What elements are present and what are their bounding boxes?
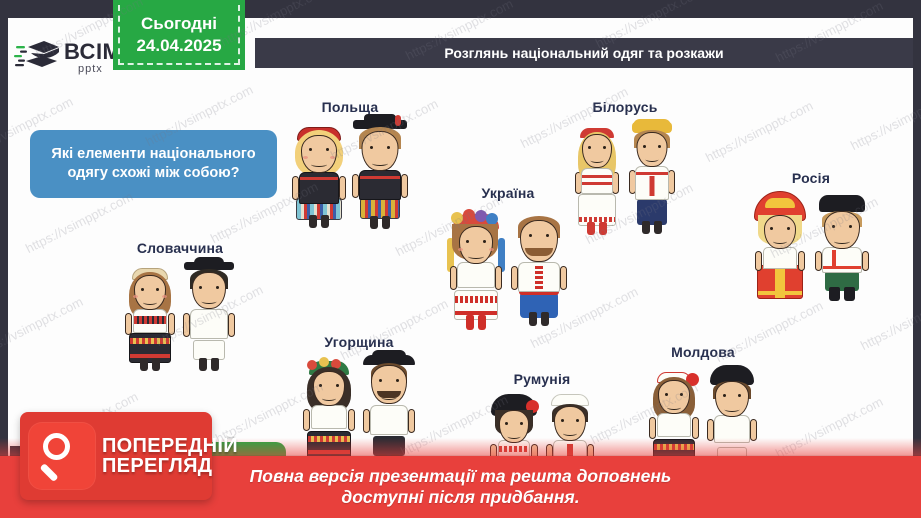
figure-male-poland [349, 116, 411, 221]
group-poland: Польща [289, 99, 411, 221]
preview-button[interactable]: ПОПЕРЕДНІЙ ПЕРЕГЛЯД [20, 412, 212, 500]
figure-pair-poland [289, 116, 411, 221]
country-label-ukraine: Україна [445, 185, 571, 201]
preview-button-line1: ПОПЕРЕДНІЙ [102, 436, 238, 456]
today-label: Сьогодні [141, 13, 217, 35]
slide-title: Розглянь національний одяг та розкажи [444, 45, 723, 61]
preview-button-line2: ПЕРЕГЛЯД [102, 456, 238, 476]
group-belarus: Білорусь [570, 99, 680, 228]
question-bubble: Які елементи національного одягу схожі м… [30, 130, 277, 198]
country-label-belarus: Білорусь [570, 99, 680, 115]
country-label-romania: Румунія [486, 371, 598, 387]
figure-female-russia [749, 189, 811, 299]
slide-title-band: Розглянь національний одяг та розкажи [255, 38, 913, 68]
figure-female-ukraine [445, 204, 507, 322]
country-label-hungary: Угорщина [299, 334, 419, 350]
purchase-notice-line2: доступні після придбання. [341, 487, 579, 508]
country-label-poland: Польща [289, 99, 411, 115]
today-date-tag: Сьогодні 24.04.2025 [113, 0, 245, 70]
figure-male-ukraine [507, 202, 571, 322]
figure-female-slovakia [121, 259, 179, 365]
country-label-moldova: Молдова [645, 344, 761, 360]
figure-female-poland [289, 118, 349, 221]
group-slovakia: Словаччина [121, 240, 239, 365]
today-date: 24.04.2025 [136, 35, 221, 57]
figure-male-russia [811, 187, 873, 299]
group-ukraine: Україна [445, 185, 571, 322]
slide-root: ВСІМ pptx Польща [0, 0, 921, 518]
figure-pair-slovakia [121, 257, 239, 365]
group-russia: Росія [749, 170, 873, 299]
magnifier-icon [28, 422, 96, 490]
country-label-russia: Росія [749, 170, 873, 186]
graduation-cap-icon [14, 39, 60, 77]
question-bubble-text: Які елементи національного одягу схожі м… [38, 145, 269, 183]
figure-male-slovakia [179, 257, 239, 365]
figure-pair-russia [749, 187, 873, 299]
figure-female-belarus [570, 118, 624, 228]
figure-pair-ukraine [445, 202, 571, 322]
figure-male-belarus [624, 116, 680, 228]
purchase-notice-line1: Повна версія презентації та решта доповн… [250, 466, 672, 487]
figure-pair-belarus [570, 116, 680, 228]
country-label-slovakia: Словаччина [121, 240, 239, 256]
